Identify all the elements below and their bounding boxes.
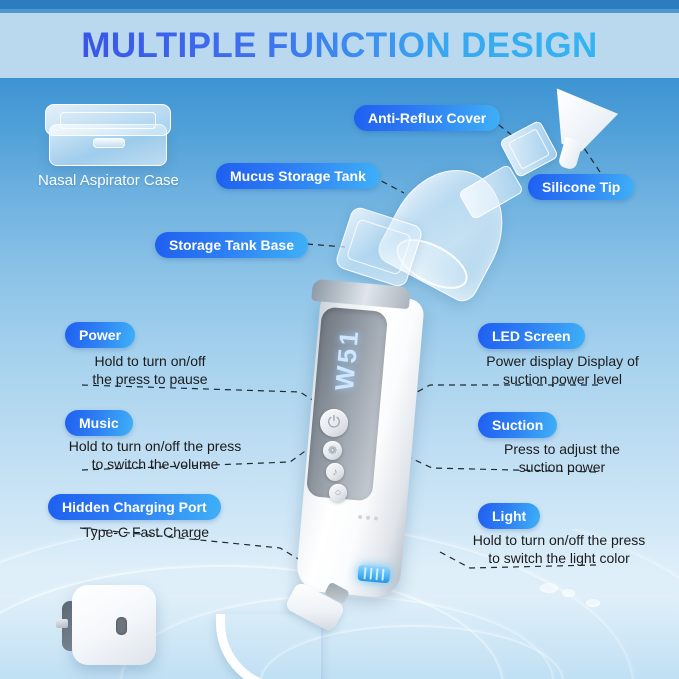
feature-desc-music-line2: to switch the volume (40, 455, 270, 474)
adapter-body (72, 585, 156, 665)
feature-desc-light-line2: to switch the light color (443, 549, 675, 568)
feature-desc-light-line1: Hold to turn on/off the press (443, 531, 675, 550)
water-bubble (586, 599, 600, 607)
feature-desc-suction-line1: Press to adjust the (458, 440, 666, 459)
cable-cord (216, 614, 321, 679)
part-label-silicone-tip[interactable]: Silicone Tip (528, 174, 634, 200)
usb-c-cable (226, 592, 346, 679)
part-label-anti-reflux-cover[interactable]: Anti-Reflux Cover (354, 105, 500, 131)
music-note-icon: ♪ (333, 467, 338, 478)
feature-desc-led-screen-line1: Power display Display of (455, 352, 670, 371)
feature-label-power[interactable]: Power (65, 322, 135, 348)
feature-label-suction[interactable]: Suction (478, 412, 557, 438)
power-icon: ⏻ (328, 414, 341, 432)
suction-button[interactable]: ❁ (323, 441, 342, 460)
power-button[interactable]: ⏻ (320, 409, 348, 437)
page-title: MULTIPLE FUNCTION DESIGN (81, 26, 597, 66)
water-bubble (540, 583, 558, 593)
water-bubble (562, 589, 575, 597)
feature-label-hidden-charging-port[interactable]: Hidden Charging Port (48, 494, 221, 520)
feature-label-music[interactable]: Music (65, 410, 133, 436)
infographic-canvas: MULTIPLE FUNCTION DESIGN Nasal Aspirator… (0, 0, 679, 679)
adapter-usb-c-slot (116, 617, 127, 635)
part-label-mucus-storage-tank[interactable]: Mucus Storage Tank (216, 163, 380, 189)
led-screen-display: W51 (321, 321, 373, 397)
light-bulb-icon: ○ (335, 487, 342, 499)
feature-desc-music-line1: Hold to turn on/off the press (40, 437, 270, 456)
case-latch (93, 138, 125, 148)
feature-desc-suction-line2: suction power (458, 458, 666, 477)
feature-desc-led-screen-line2: suction power level (455, 370, 670, 389)
nasal-aspirator-device: W51 ⏻ ❁ ♪ ○ (300, 283, 422, 598)
feature-label-light[interactable]: Light (478, 503, 540, 529)
feature-desc-hidden-charging-port-line1: Type-C Fast Charge (40, 523, 252, 542)
part-label-nasal-aspirator-case: Nasal Aspirator Case (38, 172, 179, 189)
feature-label-led-screen[interactable]: LED Screen (478, 323, 585, 349)
light-button[interactable]: ○ (329, 484, 347, 502)
adapter-prong (56, 619, 68, 628)
header-band: MULTIPLE FUNCTION DESIGN (0, 13, 679, 78)
part-label-storage-tank-base[interactable]: Storage Tank Base (155, 232, 308, 258)
usb-c-power-adapter (62, 585, 158, 667)
fan-icon: ❁ (328, 444, 337, 457)
led-screen-value: W51 (329, 327, 365, 392)
music-button[interactable]: ♪ (326, 463, 344, 481)
case-lid (45, 104, 171, 136)
feature-desc-power-line2: the press to pause (55, 370, 245, 389)
hidden-charging-port-image (357, 565, 390, 584)
top-strip (0, 0, 679, 9)
nasal-aspirator-case-image (45, 104, 169, 166)
feature-desc-power-line1: Hold to turn on/off (55, 352, 245, 371)
